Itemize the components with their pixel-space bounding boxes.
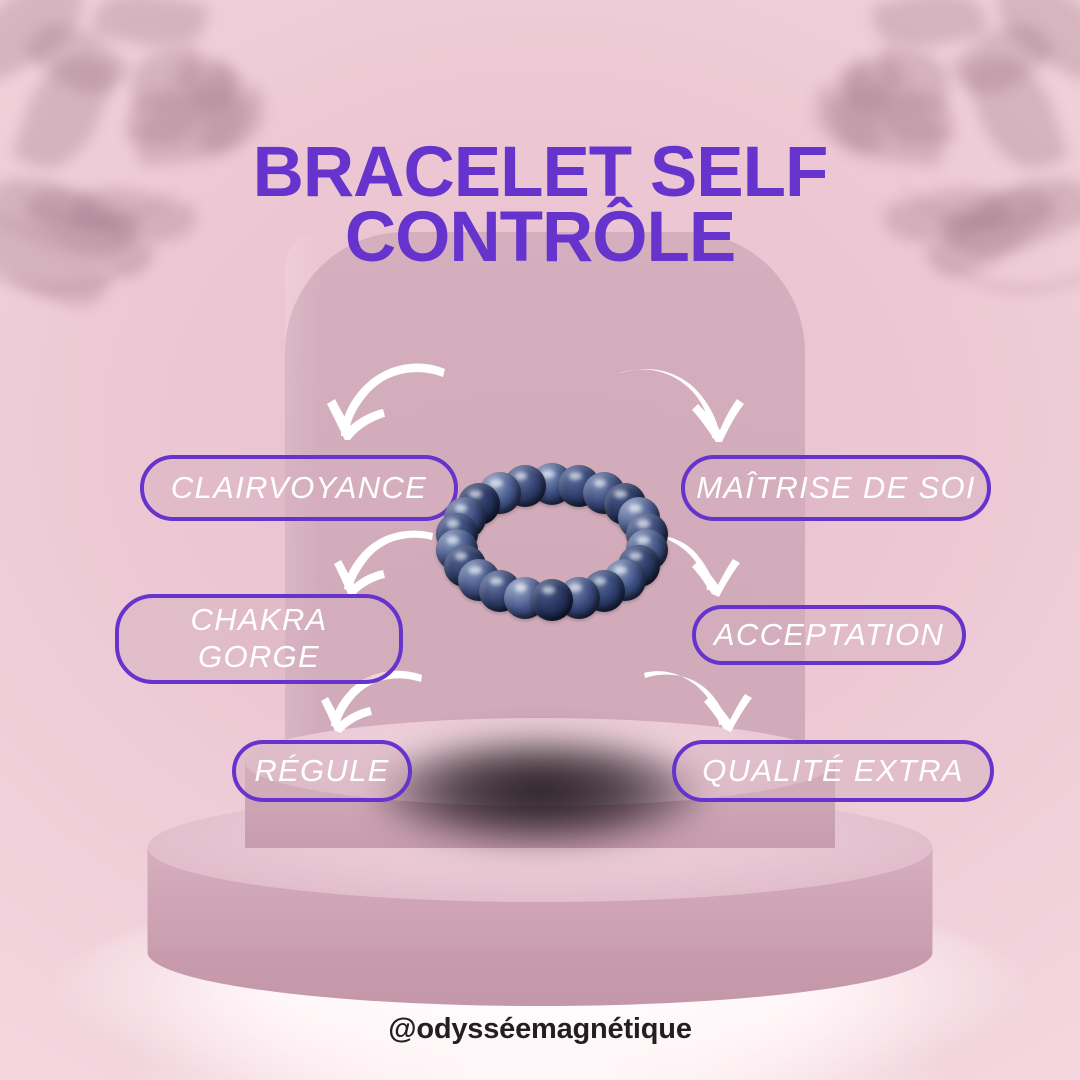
benefit-pill-acceptation[interactable]: ACCEPTATION (692, 605, 966, 665)
poster-canvas: BRACELET SELF CONTRÔLE (0, 0, 1080, 1080)
brand-handle: @odysséemagnétique (0, 1013, 1080, 1046)
benefit-pill-maitrise-de-soi[interactable]: MAÎTRISE DE SOI (681, 455, 991, 521)
benefit-label: QUALITÉ EXTRA (702, 753, 964, 790)
bracelet-bead (531, 579, 573, 621)
benefit-label: MAÎTRISE DE SOI (696, 470, 976, 507)
benefit-pill-chakra-gorge[interactable]: CHAKRA GORGE (115, 594, 403, 684)
arrow-layer (0, 0, 1080, 1080)
benefit-label: CLAIRVOYANCE (171, 470, 427, 507)
benefit-label: ACCEPTATION (714, 617, 944, 654)
benefit-pill-regule[interactable]: RÉGULE (232, 740, 412, 802)
curved-arrow-icon-top-left (327, 363, 445, 440)
benefit-pill-qualite-extra[interactable]: QUALITÉ EXTRA (672, 740, 994, 802)
benefit-pill-clairvoyance[interactable]: CLAIRVOYANCE (140, 455, 458, 521)
benefit-label: RÉGULE (254, 753, 389, 790)
curved-arrow-icon-top-right (620, 369, 744, 442)
benefit-label: CHAKRA GORGE (191, 602, 328, 675)
curved-arrow-icon-mid-left (334, 531, 433, 596)
curved-arrow-icon-bottom-right (644, 671, 752, 732)
